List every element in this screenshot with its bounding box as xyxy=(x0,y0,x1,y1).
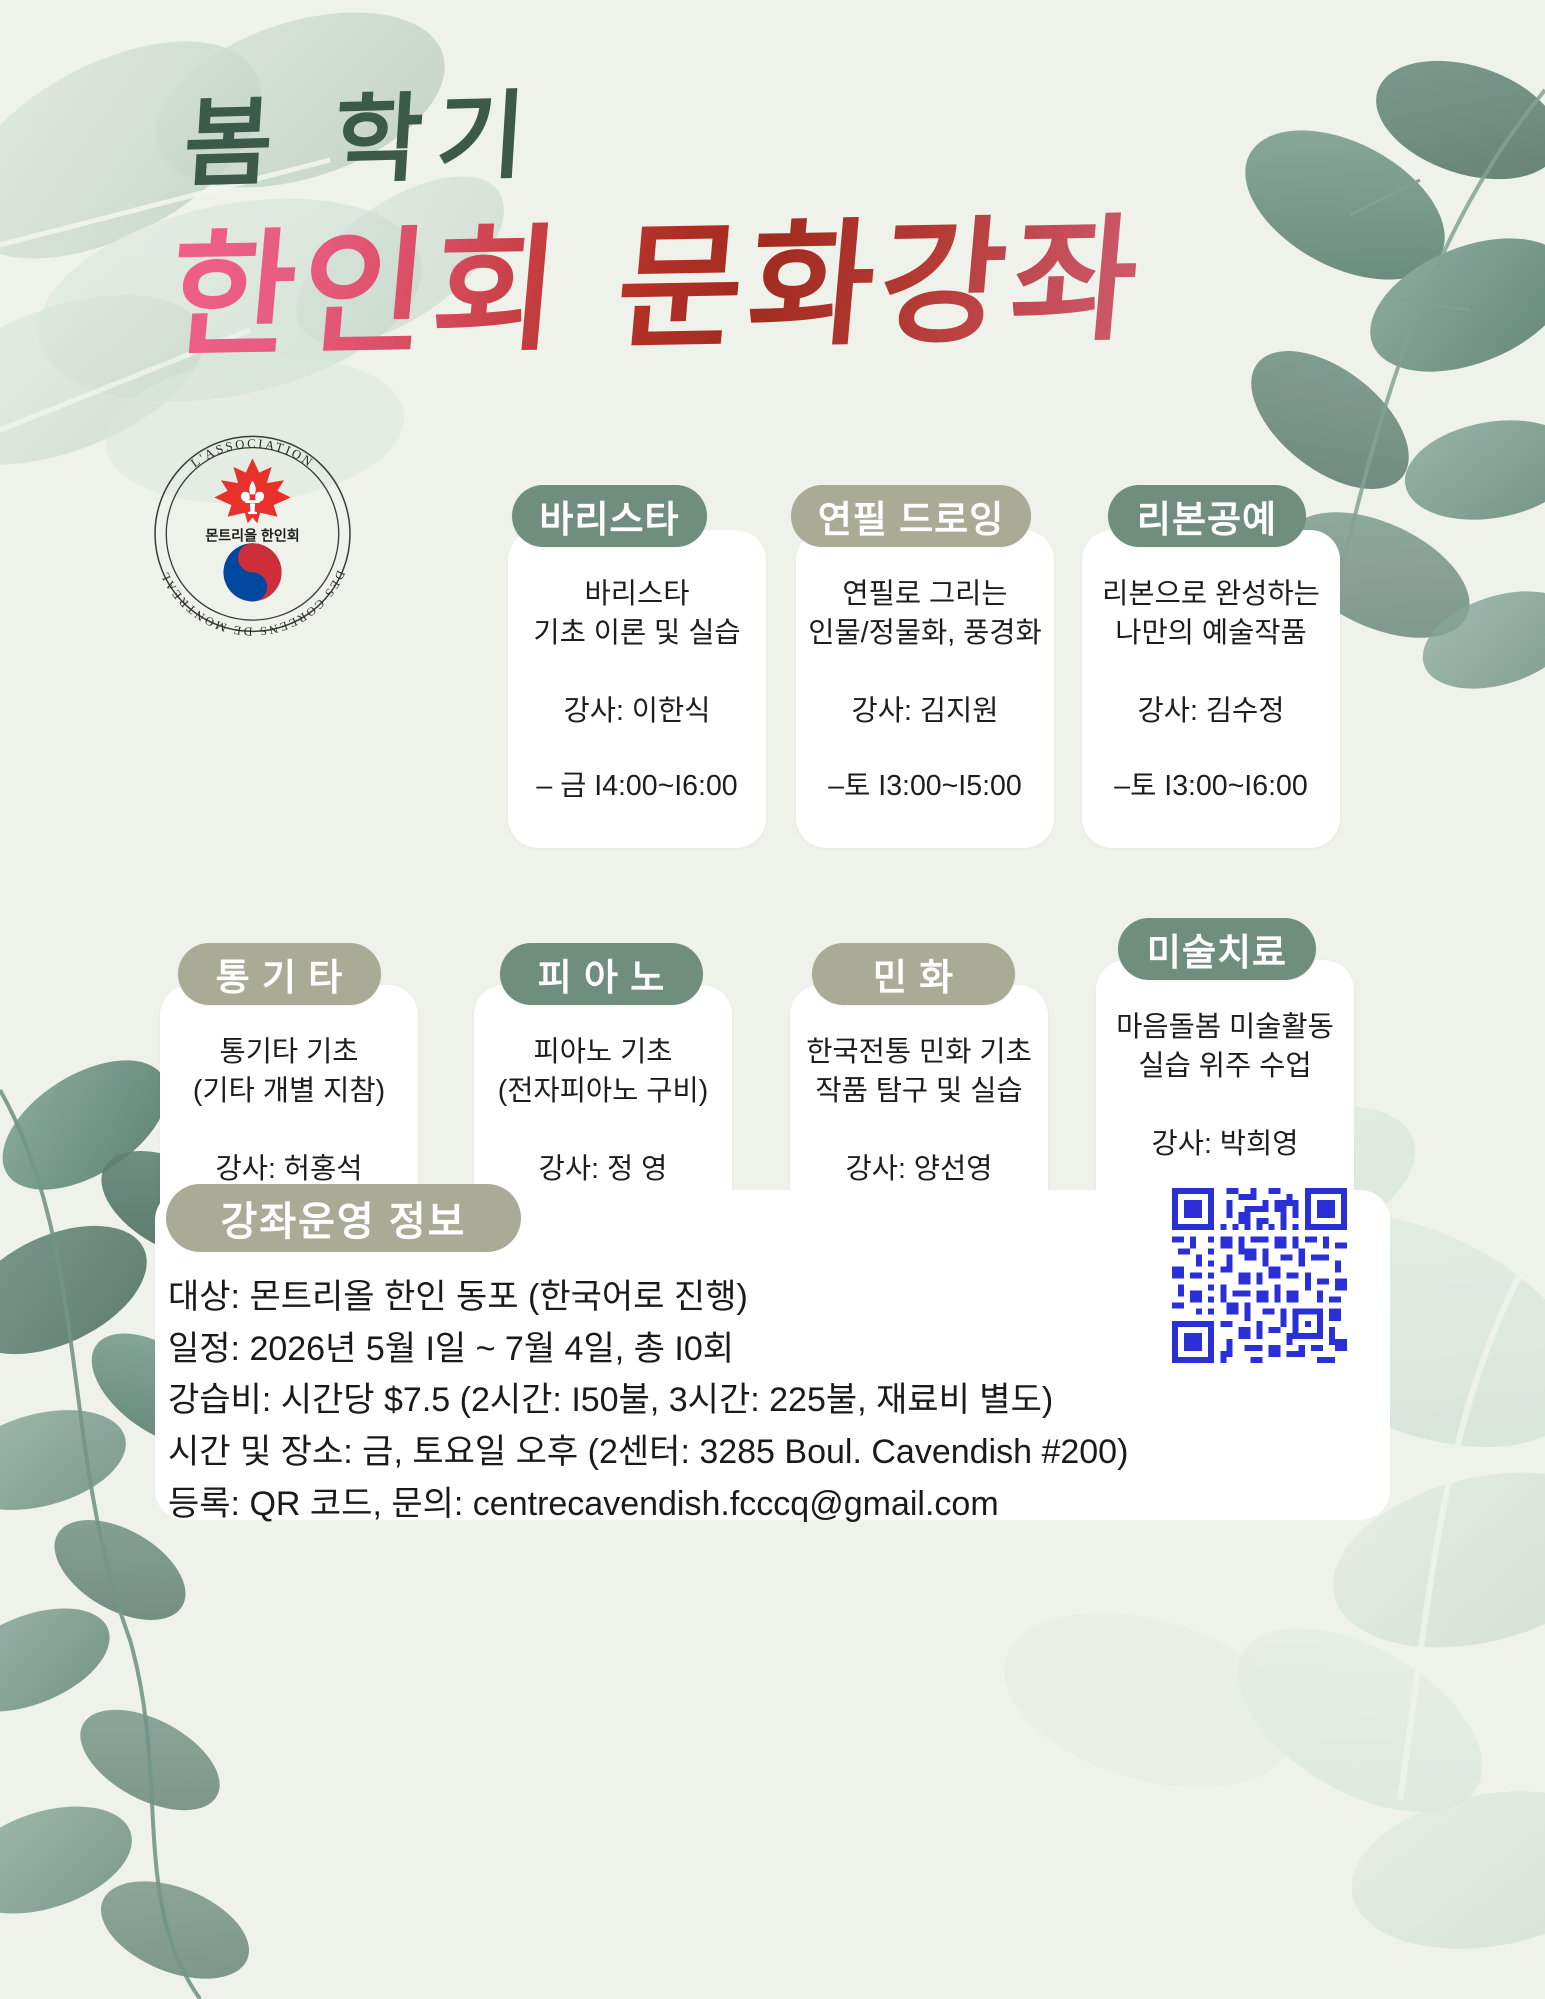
info-lines: 대상: 몬트리올 한인 동포 (한국어로 진행) 일정: 2026년 5월 I일… xyxy=(168,1272,1288,1530)
info-line-target: 대상: 몬트리올 한인 동포 (한국어로 진행) xyxy=(168,1272,1288,1324)
poster-root: 봄 학기 한인회 문화강좌 L'ASSOCIATION DES COREENS … xyxy=(0,0,1545,1999)
course-teacher: 강사: 김수정 xyxy=(1078,692,1344,731)
course-desc-line2: 기초 이론 및 실습 xyxy=(508,614,766,653)
course-card-header[interactable]: 바리스타 xyxy=(512,485,707,547)
course-desc-line1: 피아노 기초 xyxy=(468,1033,738,1072)
qr-code[interactable] xyxy=(1172,1188,1347,1363)
course-teacher: 강사: 양선영 xyxy=(784,1150,1054,1189)
course-desc-line2: (기타 개별 지참) xyxy=(156,1072,422,1111)
course-desc-line1: 통기타 기초 xyxy=(156,1033,422,1072)
course-time: –토 I3:00~I5:00 xyxy=(790,767,1060,806)
course-desc-line1: 연필로 그리는 xyxy=(790,575,1060,614)
title-main: 한인회 문화강좌 xyxy=(163,170,1153,384)
course-desc-line2: 작품 탐구 및 실습 xyxy=(784,1072,1054,1111)
association-logo: L'ASSOCIATION DES COREENS DE MONTREAL xyxy=(140,418,365,646)
course-time: –토 I3:00~I6:00 xyxy=(1078,767,1344,806)
course-card-header[interactable]: 연필 드로잉 xyxy=(791,485,1031,547)
course-desc-line2: 인물/정물화, 풍경화 xyxy=(790,614,1060,653)
course-time: – 금 I4:00~I6:00 xyxy=(508,767,766,806)
course-card-header[interactable]: 피 아 노 xyxy=(500,943,703,1005)
course-desc-line1: 한국전통 민화 기초 xyxy=(784,1033,1054,1072)
course-card-body: 리본으로 완성하는 나만의 예술작품 강사: 김수정 –토 I3:00~I6:0… xyxy=(1078,575,1344,806)
course-desc-line2: 실습 위주 수업 xyxy=(1090,1047,1360,1086)
course-teacher: 강사: 박희영 xyxy=(1090,1125,1360,1164)
course-teacher: 강사: 이한식 xyxy=(508,692,766,731)
course-card-body: 연필로 그리는 인물/정물화, 풍경화 강사: 김지원 –토 I3:00~I5:… xyxy=(790,575,1060,806)
course-teacher: 강사: 김지원 xyxy=(790,692,1060,731)
info-line-location: 시간 및 장소: 금, 토요일 오후 (2센터: 3285 Boul. Cave… xyxy=(168,1427,1288,1479)
course-card-header[interactable]: 민 화 xyxy=(812,943,1015,1005)
logo-center-text: 몬트리올 한인회 xyxy=(205,527,299,543)
course-desc-line2: (전자피아노 구비) xyxy=(468,1072,738,1111)
logo-seal-icon: L'ASSOCIATION DES COREENS DE MONTREAL xyxy=(140,418,365,646)
info-line-schedule: 일정: 2026년 5월 I일 ~ 7월 4일, 총 I0회 xyxy=(168,1324,1288,1376)
info-badge: 강좌운영 정보 xyxy=(166,1184,521,1252)
info-line-fee: 강습비: 시간당 $7.5 (2시간: I50불, 3시간: 225불, 재료비… xyxy=(168,1375,1288,1427)
course-desc-line1: 마음돌봄 미술활동 xyxy=(1090,1008,1360,1047)
course-card-header[interactable]: 리본공예 xyxy=(1108,485,1306,547)
course-card-header[interactable]: 통 기 타 xyxy=(178,943,381,1005)
course-desc-line1: 리본으로 완성하는 xyxy=(1078,575,1344,614)
course-teacher: 강사: 정 영 xyxy=(468,1150,738,1189)
course-card-body: 바리스타 기초 이론 및 실습 강사: 이한식 – 금 I4:00~I6:00 xyxy=(508,575,766,806)
info-line-register: 등록: QR 코드, 문의: centrecavendish.fcccq@gma… xyxy=(168,1479,1288,1531)
course-desc-line1: 바리스타 xyxy=(508,575,766,614)
course-desc-line2: 나만의 예술작품 xyxy=(1078,614,1344,653)
course-card-header[interactable]: 미술치료 xyxy=(1118,918,1316,980)
